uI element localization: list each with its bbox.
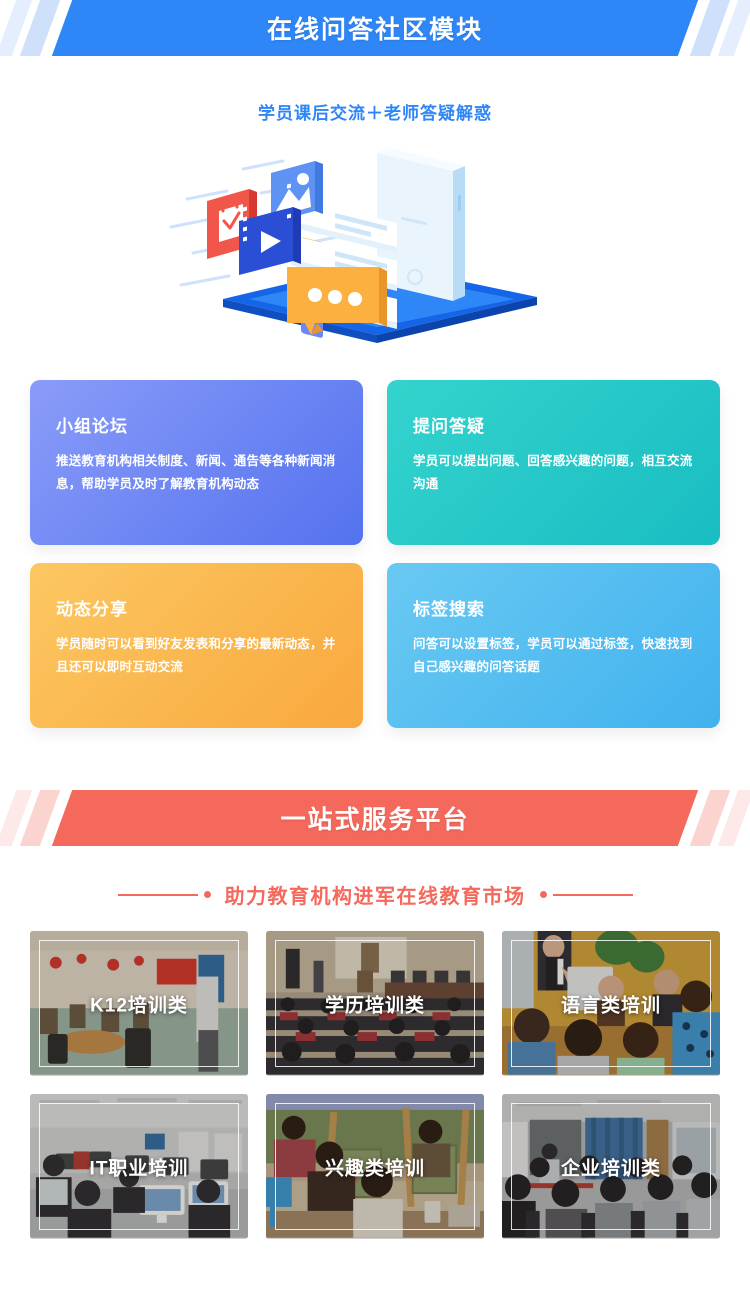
decorative-line-left	[118, 891, 211, 898]
illustration-svg	[165, 135, 585, 355]
feature-card-title: 提问答疑	[413, 412, 694, 437]
section1-subtitle: 学员课后交流＋老师答疑解惑	[0, 99, 750, 124]
feature-card-title: 标签搜索	[413, 595, 694, 620]
feature-card-title: 动态分享	[56, 595, 337, 620]
feature-card-desc: 问答可以设置标签，学员可以通过标签，快速找到自己感兴趣的问答话题	[413, 633, 694, 679]
feature-card-desc: 学员随时可以看到好友发表和分享的最新动态，并且还可以即时互动交流	[56, 633, 337, 679]
training-category-card[interactable]: IT职业培训	[30, 1094, 248, 1239]
decorative-line-segment	[553, 894, 633, 896]
feature-card-desc: 推送教育机构相关制度、新闻、通告等各种新闻消息，帮助学员及时了解教育机构动态	[56, 450, 337, 496]
feature-card-desc: 学员可以提出问题、回答感兴趣的问题，相互交流沟通	[413, 450, 694, 496]
section2-subtitle-row: 助力教育机构进军在线教育市场	[0, 880, 750, 909]
feature-card-moments[interactable]: 动态分享 学员随时可以看到好友发表和分享的最新动态，并且还可以即时互动交流	[30, 563, 363, 728]
qa-community-isometric-illustration	[0, 130, 750, 360]
section2-banner-title: 一站式服务平台	[0, 790, 750, 846]
training-category-label: 企业培训类	[502, 1153, 720, 1180]
training-category-card[interactable]: K12培训类	[30, 931, 248, 1076]
section1-banner: FEATURES 在线问答社区模块	[0, 0, 750, 56]
feature-card-title: 小组论坛	[56, 412, 337, 437]
training-category-card[interactable]: 企业培训类	[502, 1094, 720, 1239]
decorative-line-segment	[118, 894, 198, 896]
section-divider-spacer	[0, 728, 750, 790]
training-category-grid: K12培训类	[30, 931, 720, 1239]
training-category-label: IT职业培训	[30, 1153, 248, 1180]
decorative-dot	[204, 891, 211, 898]
training-category-label: K12培训类	[30, 990, 248, 1017]
training-category-label: 学历培训类	[266, 990, 484, 1017]
section2-banner: FEATURES 一站式服务平台	[0, 790, 750, 846]
feature-card-group-forum[interactable]: 小组论坛 推送教育机构相关制度、新闻、通告等各种新闻消息，帮助学员及时了解教育机…	[30, 380, 363, 545]
decorative-line-right	[540, 891, 633, 898]
feature-card-qa[interactable]: 提问答疑 学员可以提出问题、回答感兴趣的问题，相互交流沟通	[387, 380, 720, 545]
training-category-card[interactable]: 语言类培训	[502, 931, 720, 1076]
training-category-card[interactable]: 兴趣类培训	[266, 1094, 484, 1239]
training-category-label: 语言类培训	[502, 990, 720, 1017]
section1-banner-title: 在线问答社区模块	[0, 0, 750, 56]
decorative-dot	[540, 891, 547, 898]
training-category-card[interactable]: 学历培训类	[266, 931, 484, 1076]
feature-card-tag-search[interactable]: 标签搜索 问答可以设置标签，学员可以通过标签，快速找到自己感兴趣的问答话题	[387, 563, 720, 728]
section2-subtitle: 助力教育机构进军在线教育市场	[225, 880, 526, 909]
training-category-label: 兴趣类培训	[266, 1153, 484, 1180]
feature-card-grid: 小组论坛 推送教育机构相关制度、新闻、通告等各种新闻消息，帮助学员及时了解教育机…	[30, 380, 720, 728]
